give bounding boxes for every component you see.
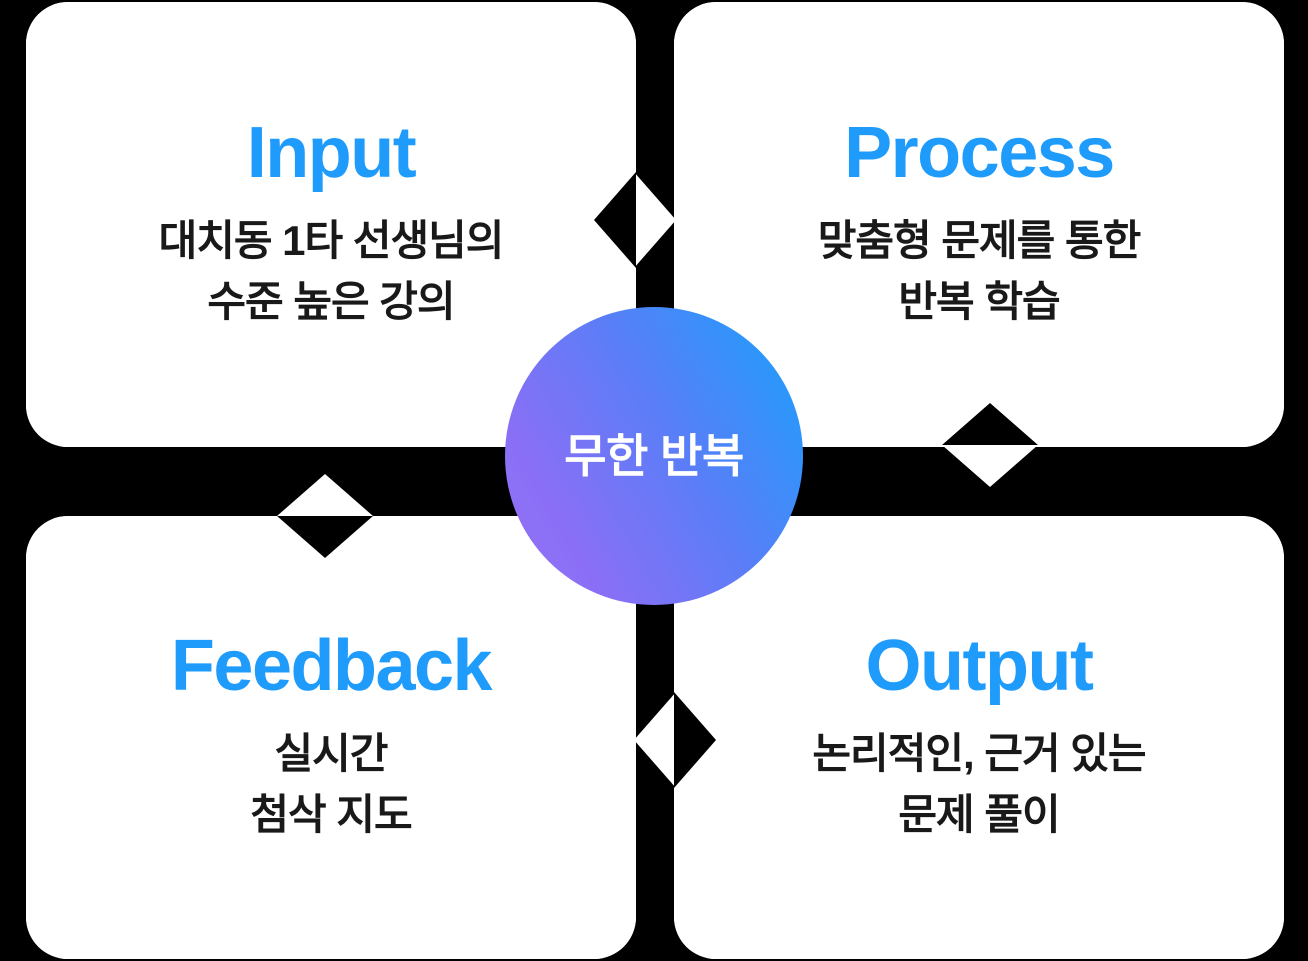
arrow-left-icon [634, 692, 676, 788]
arrow-right-icon [634, 172, 676, 268]
notch-process-bottom [942, 403, 1038, 445]
center-hub-label: 무한 반복 [564, 433, 744, 479]
card-output-description-line2: 문제 풀이 [898, 785, 1059, 846]
card-feedback-title: Feedback [171, 630, 491, 702]
card-process-title: Process [844, 117, 1114, 189]
card-output[interactable]: Output 논리적인, 근거 있는 문제 풀이 [674, 516, 1284, 959]
card-input-title: Input [247, 117, 415, 189]
notch-feedback-top [277, 516, 373, 558]
diagram-canvas: Input 대치동 1타 선생님의 수준 높은 강의 Process 맞춤형 문… [0, 0, 1308, 961]
center-hub-circle: 무한 반복 [505, 307, 803, 605]
card-output-description-line1: 논리적인, 근거 있는 [812, 724, 1145, 785]
card-feedback-description-line1: 실시간 [275, 724, 388, 785]
card-feedback-description-line2: 첨삭 지도 [250, 785, 411, 846]
notch-output-left [674, 692, 716, 788]
notch-input-right [594, 172, 636, 268]
card-process-description-line2: 반복 학습 [898, 272, 1059, 333]
card-process-description-line1: 맞춤형 문제를 통한 [818, 211, 1140, 272]
card-input-description-line1: 대치동 1타 선생님의 [159, 211, 504, 272]
card-input-description-line2: 수준 높은 강의 [207, 272, 454, 333]
arrow-up-icon [277, 474, 373, 516]
card-feedback[interactable]: Feedback 실시간 첨삭 지도 [26, 516, 636, 959]
card-output-title: Output [866, 630, 1093, 702]
arrow-down-icon [942, 445, 1038, 487]
